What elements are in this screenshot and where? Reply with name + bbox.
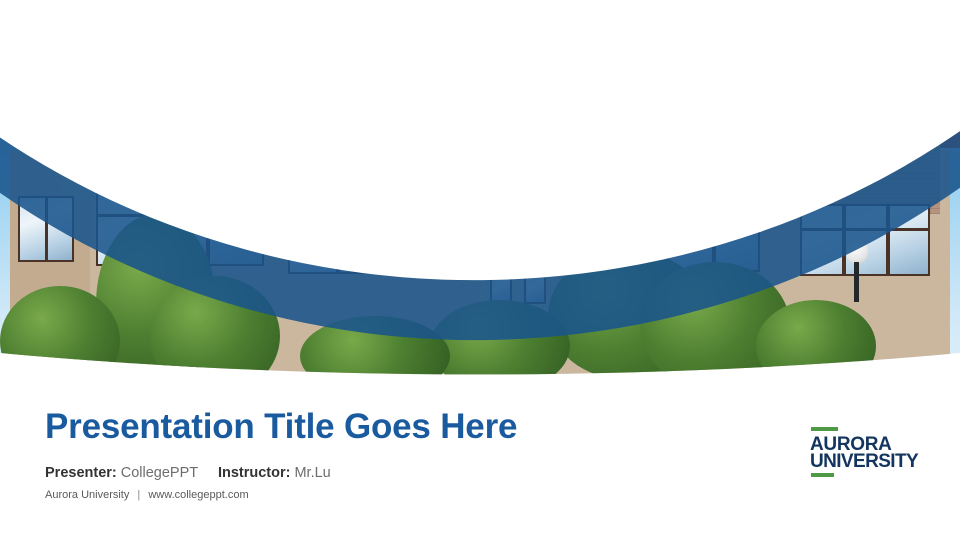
wall-lamp-icon [604, 150, 620, 168]
shrub [300, 316, 450, 390]
window-transom [96, 214, 264, 217]
instructor-name: Mr.Lu [294, 465, 330, 481]
window-mullion [886, 204, 890, 276]
title-slide: Presentation Title Goes Here Presenter: … [0, 0, 960, 540]
window-mullion [336, 196, 340, 274]
street-lamp-post [854, 262, 859, 302]
hero-arc-mask [0, 0, 960, 390]
tower-parapet [455, 66, 585, 84]
window-transom [527, 140, 561, 143]
cloud [120, 10, 460, 56]
window-tower-mid [498, 218, 538, 244]
wall-lamp-icon [272, 152, 288, 170]
page-title: Presentation Title Goes Here [45, 407, 517, 447]
hero-image [0, 0, 960, 390]
shrub [756, 300, 876, 390]
window-transom [483, 140, 517, 143]
window-mullion [842, 204, 846, 276]
aurora-university-logo: AURORA UNIVERSITY [806, 424, 932, 476]
corner-foliage [0, 0, 110, 104]
window-tower-base-b [524, 276, 546, 304]
tree [150, 276, 280, 390]
street-lamp-icon [846, 238, 868, 264]
gable-mid-right-peak [636, 78, 766, 108]
presenter-line: Presenter: CollegePPT Instructor: Mr.Lu [45, 465, 331, 481]
window-transom [288, 222, 438, 225]
cloud [560, 8, 780, 32]
wall-lamp-icon [740, 152, 756, 170]
logo-accent-top-icon [811, 427, 838, 431]
gable-mid-left-peak [300, 76, 440, 108]
logo-line-2: UNIVERSITY [810, 452, 918, 471]
gable-right-peak [790, 70, 940, 106]
window-bank-center-left [288, 196, 438, 274]
window-transom [800, 228, 930, 231]
instructor-label: Instructor: [218, 465, 291, 481]
wall-lamp-icon [434, 150, 450, 168]
shrub [430, 300, 570, 390]
footer-separator: | [132, 489, 145, 501]
window-mullion [206, 188, 210, 266]
presenter-name: CollegePPT [121, 465, 198, 481]
footer-website[interactable]: www.collegeppt.com [148, 489, 248, 501]
tower-merlon [561, 36, 583, 68]
leaf [0, 44, 26, 77]
window-mullion [45, 196, 48, 262]
window-transom [620, 220, 760, 223]
window-bank-right [800, 204, 930, 276]
footer-institution: Aurora University [45, 489, 129, 501]
campus-photo [0, 0, 960, 390]
logo-accent-bottom-icon [811, 473, 834, 477]
footer-line: Aurora University | www.collegeppt.com [45, 489, 249, 501]
shrub [0, 286, 120, 390]
presenter-label: Presenter: [45, 465, 117, 481]
window-mullion [388, 196, 392, 274]
leaf [0, 0, 28, 27]
window-mullion [712, 196, 716, 272]
tower-merlon [493, 36, 515, 68]
